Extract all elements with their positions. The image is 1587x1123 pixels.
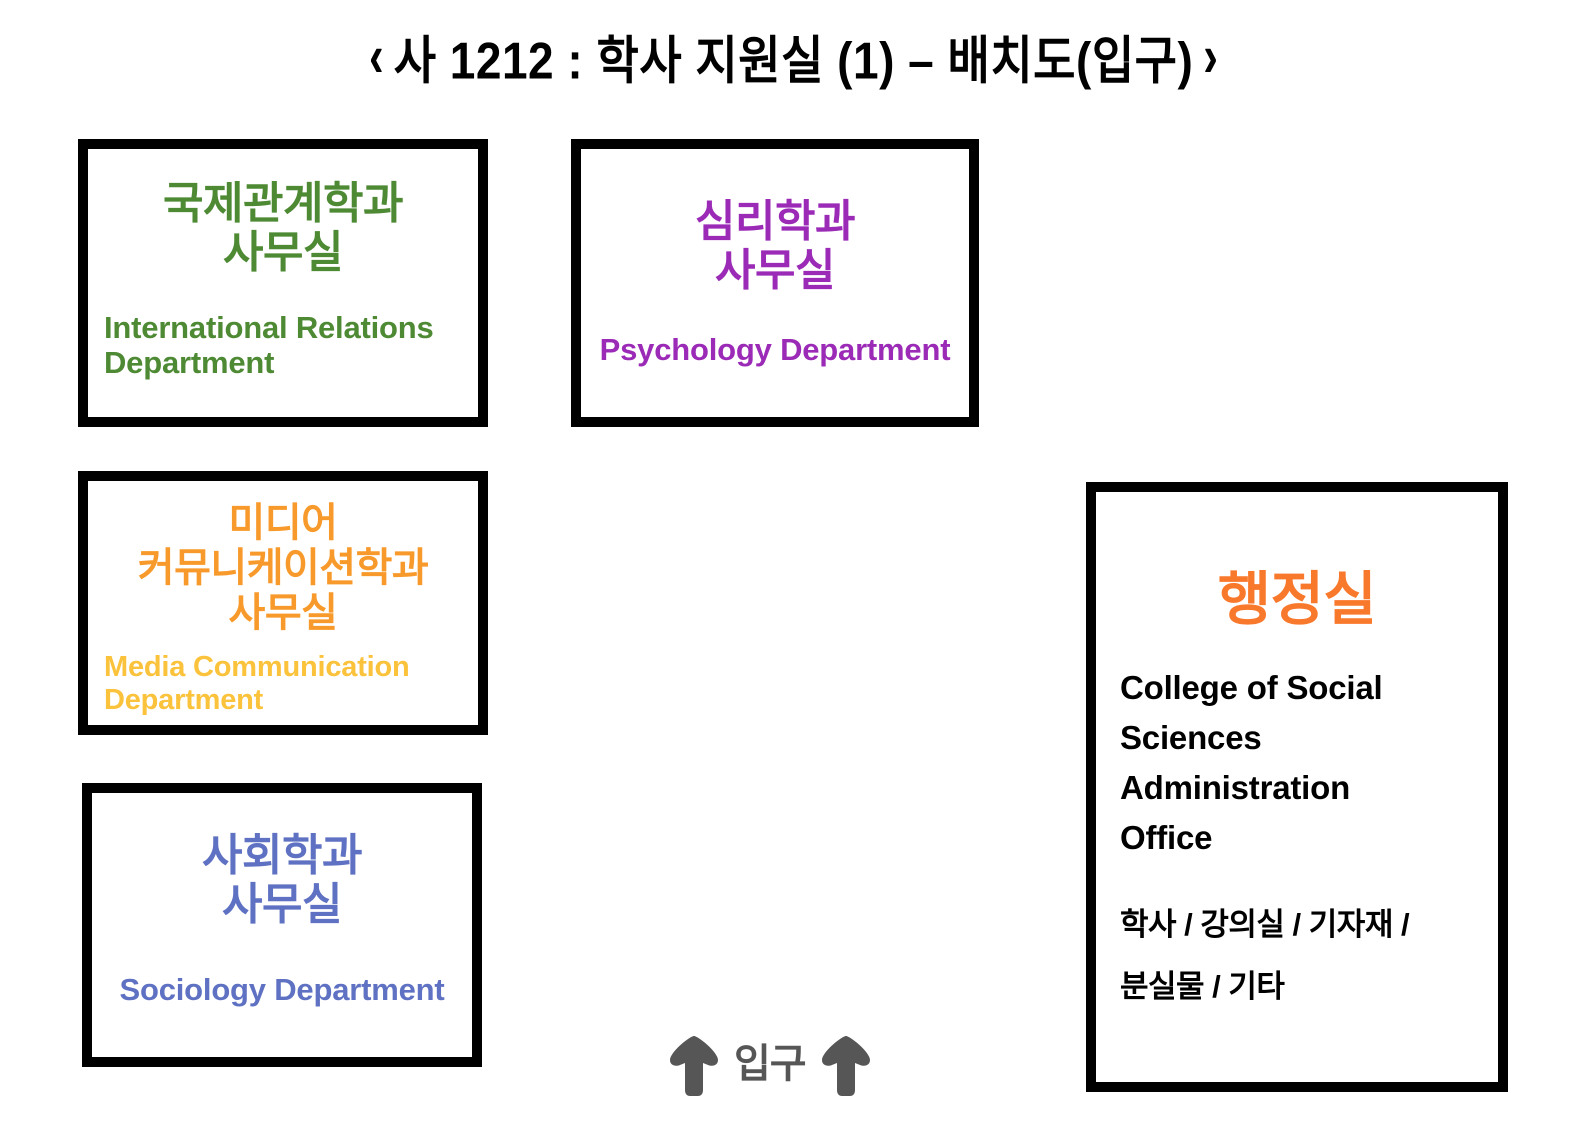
room-name-kr-line3: 사무실 [88,591,478,636]
room-name-kr-line2: 사무실 [88,228,478,277]
room-name-en-line2: Sciences [1120,713,1498,763]
room-name-en-line1: International Relations [104,310,478,345]
room-media-communication[interactable]: 미디어 커뮤니케이션학과 사무실 Media Communication Dep… [78,471,488,735]
room-name-en: College of Social Sciences Administratio… [1096,663,1498,864]
room-name-kr-line2: 사무실 [92,880,472,929]
room-name-en-line2: Department [104,345,478,380]
page-title-text: 사 1212 : 학사 지원실 (1) – 배치도(입구) [394,20,1194,94]
room-name-kr-line2: 사무실 [581,246,969,295]
room-name-en: Media Communication Department [88,651,478,717]
arrow-up-icon [820,1034,872,1098]
room-psychology[interactable]: 심리학과 사무실 Psychology Department [571,139,979,427]
admin-services-line2: 분실물 / 기타 [1120,970,1498,1004]
room-name-kr-line1: 심리학과 [581,197,969,246]
room-sociology[interactable]: 사회학과 사무실 Sociology Department [82,783,482,1067]
room-name-en: Sociology Department [92,972,472,1007]
admin-services-line1: 학사 / 강의실 / 기자재 / [1120,908,1498,942]
room-name-kr-line1: 사회학과 [92,831,472,880]
room-international-relations[interactable]: 국제관계학과 사무실 International Relations Depar… [78,139,488,427]
arrow-up-icon [668,1034,720,1098]
room-name-en-line1: College of Social [1120,663,1498,713]
room-name-kr: 사회학과 사무실 [92,831,472,930]
room-name-en-line2: Department [104,684,478,717]
room-name-kr: 심리학과 사무실 [581,197,969,296]
entrance-label: 입구 [734,1044,806,1088]
admin-services-list: 학사 / 강의실 / 기자재 / 분실물 / 기타 [1096,908,1498,1004]
room-name-kr-line1: 미디어 [88,501,478,546]
room-name-en-line1: Psychology Department [581,332,969,367]
room-name-kr: 행정실 [1096,568,1498,633]
room-name-en: International Relations Department [88,310,478,381]
room-name-kr-line2: 커뮤니케이션학과 [88,546,478,591]
prev-chevron-icon[interactable]: ‹ [369,23,384,91]
room-name-kr: 미디어 커뮤니케이션학과 사무실 [88,501,478,635]
entrance-marker: 입구 [668,1034,872,1098]
next-chevron-icon[interactable]: › [1203,23,1218,91]
room-name-kr: 국제관계학과 사무실 [88,179,478,278]
room-name-en-line4: Office [1120,813,1498,863]
page-title: ‹사 1212 : 학사 지원실 (1) – 배치도(입구)› [0,24,1587,90]
room-name-en-line1: Sociology Department [92,972,472,1007]
room-name-kr-line1: 국제관계학과 [88,179,478,228]
room-name-en-line3: Administration [1120,763,1498,813]
room-administration-office[interactable]: 행정실 College of Social Sciences Administr… [1086,482,1508,1092]
room-name-en-line1: Media Communication [104,651,478,684]
room-name-en: Psychology Department [581,332,969,367]
